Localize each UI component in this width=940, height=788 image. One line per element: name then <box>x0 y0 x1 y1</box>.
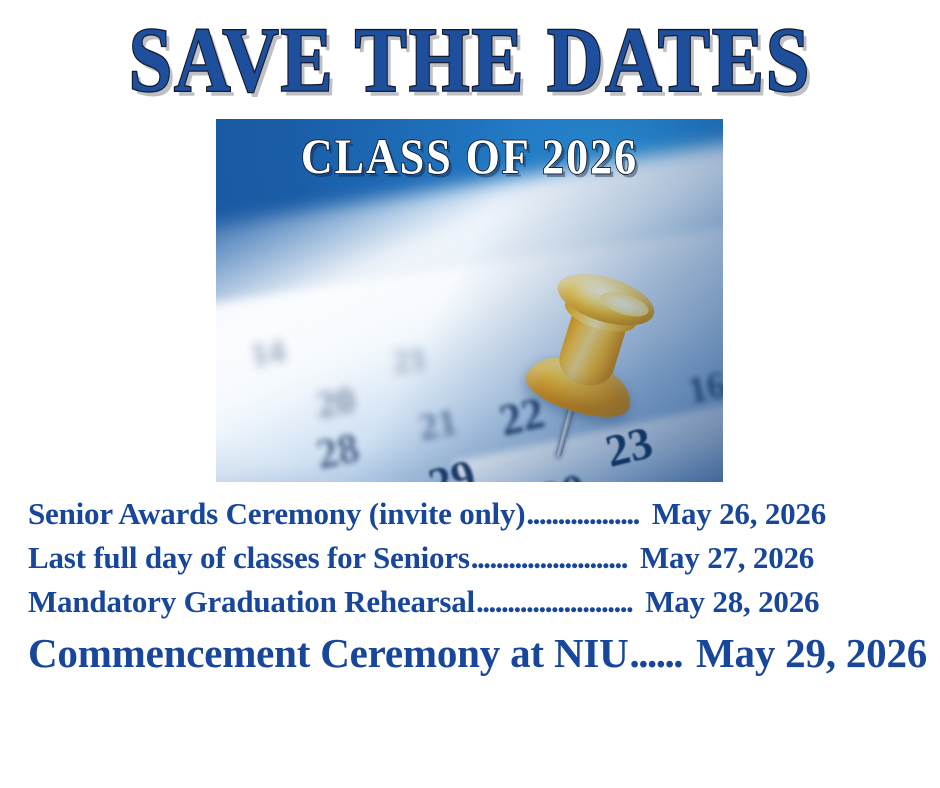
calendar-photo-canvas: 14202128212229302316 CLASS OF 2026 <box>216 119 723 482</box>
headline-banner: SAVE THE DATES <box>0 0 940 112</box>
date-row-label: Senior Awards Ceremony (invite only) <box>28 492 525 536</box>
date-row-leader: ......................... <box>476 580 632 624</box>
photo-overlay-title: CLASS OF 2026 <box>216 131 723 184</box>
page-title: SAVE THE DATES <box>129 14 812 106</box>
date-row-leader: ......................... <box>471 536 627 580</box>
date-row-label: Commencement Ceremony at NIU <box>28 626 629 680</box>
date-row-label: Last full day of classes for Seniors <box>28 536 470 580</box>
calendar-photo: 14202128212229302316 CLASS OF 2026 <box>216 119 723 482</box>
date-row-date: May 29, 2026 <box>696 626 927 680</box>
date-row: Mandatory Graduation Rehearsal..........… <box>0 580 940 624</box>
date-row-leader: ...... <box>630 626 683 680</box>
date-row-date: May 28, 2026 <box>645 580 819 624</box>
date-list: Senior Awards Ceremony (invite only)....… <box>0 492 940 680</box>
date-row: Last full day of classes for Seniors....… <box>0 536 940 580</box>
date-row-label: Mandatory Graduation Rehearsal <box>28 580 475 624</box>
date-row: Commencement Ceremony at NIU......May 29… <box>0 626 940 680</box>
date-row-date: May 27, 2026 <box>640 536 814 580</box>
date-row-leader: .................. <box>526 492 639 536</box>
date-row-date: May 26, 2026 <box>652 492 826 536</box>
date-row: Senior Awards Ceremony (invite only)....… <box>0 492 940 536</box>
